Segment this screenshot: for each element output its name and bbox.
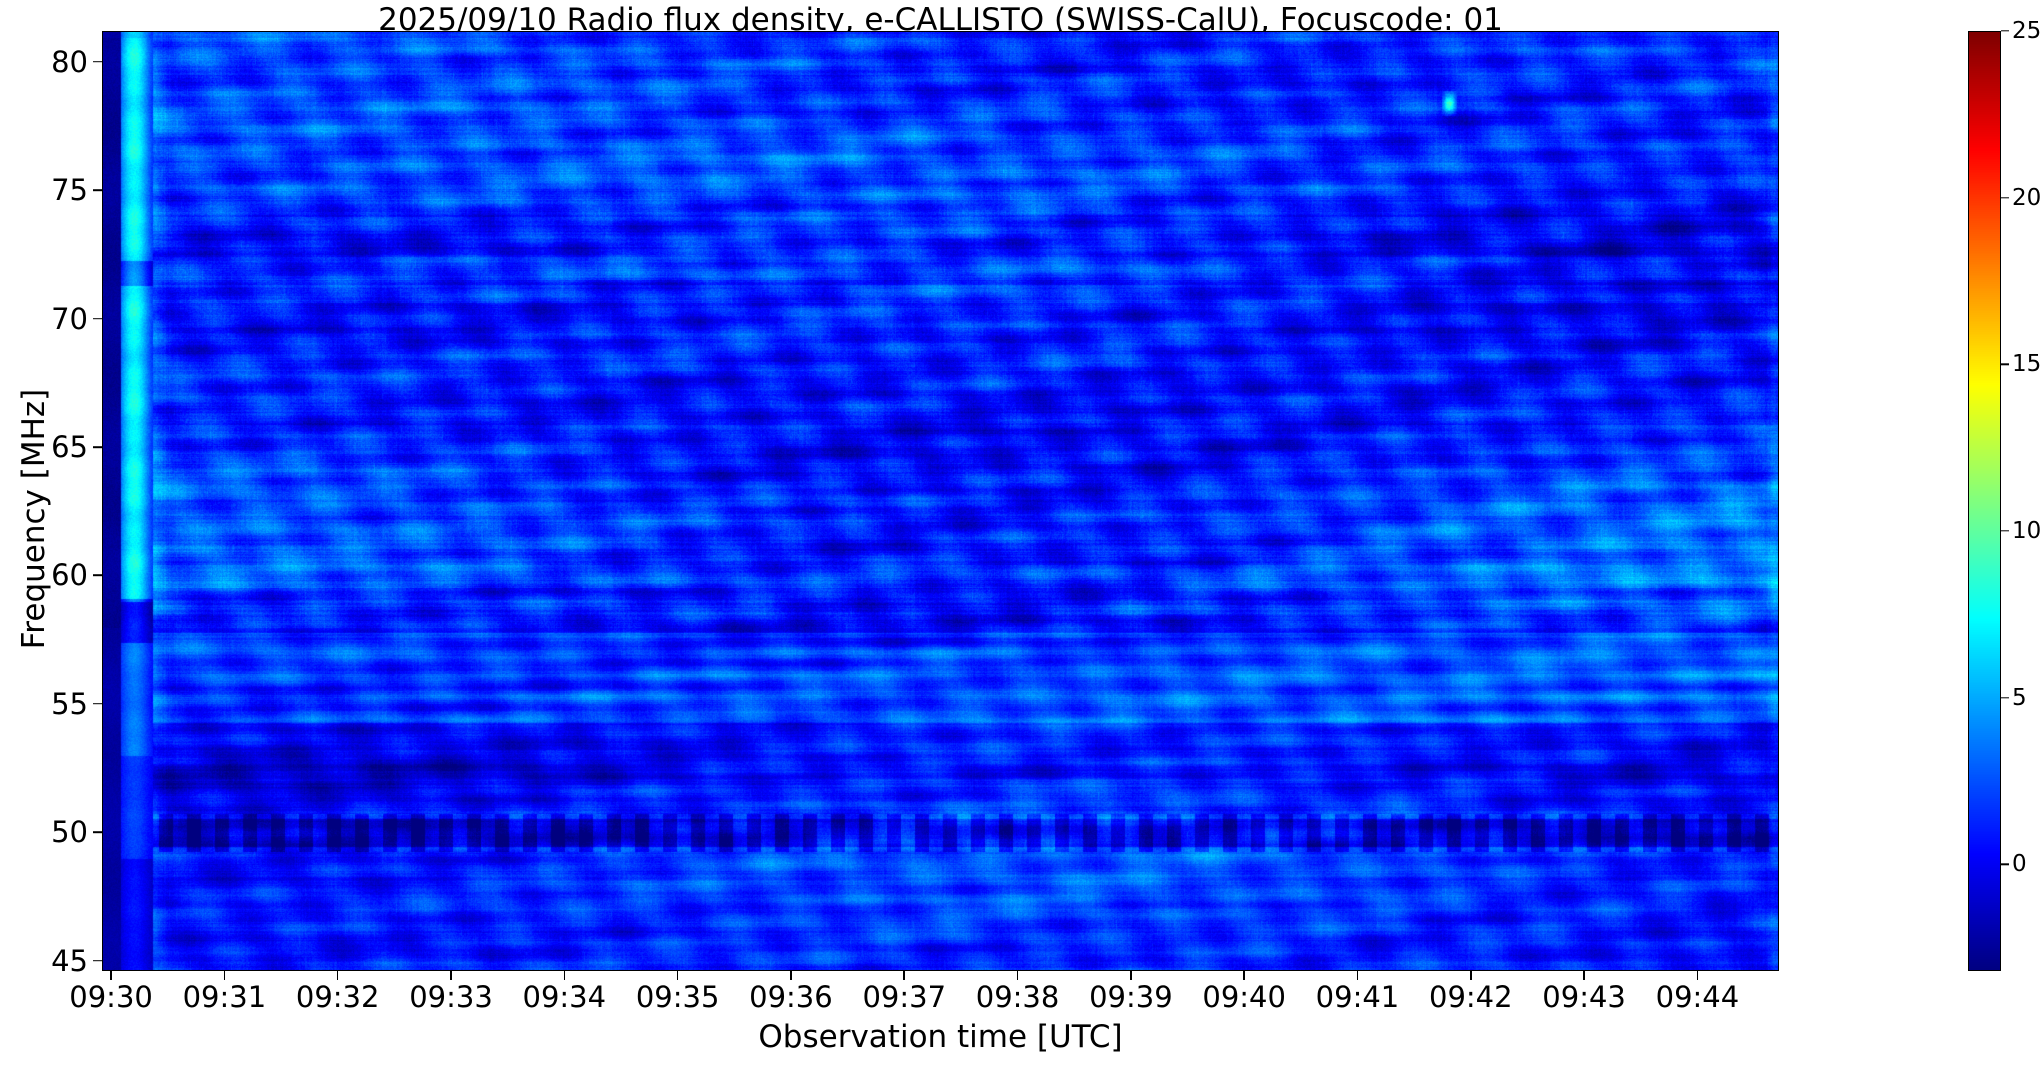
x-tick-label: 09:41: [1316, 980, 1400, 1014]
y-tick-mark: [93, 318, 102, 320]
y-tick-label: 45: [0, 944, 88, 978]
spectrogram-axes: [102, 31, 1779, 971]
x-tick-mark: [337, 971, 339, 980]
x-tick-mark: [1470, 971, 1472, 980]
x-tick-mark: [903, 971, 905, 980]
colorbar-tick-mark: [2001, 864, 2009, 865]
x-tick-label: 09:34: [523, 980, 607, 1014]
x-tick-mark: [1130, 971, 1132, 980]
x-tick-label: 09:30: [69, 980, 153, 1014]
x-tick-mark: [1243, 971, 1245, 980]
y-tick-label: 50: [0, 815, 88, 849]
x-tick-label: 09:33: [409, 980, 493, 1014]
y-tick-mark: [93, 575, 102, 577]
y-tick-mark: [93, 960, 102, 962]
colorbar-gradient: [1969, 32, 2001, 971]
y-tick-mark: [93, 703, 102, 705]
y-tick-label: 80: [0, 45, 88, 79]
y-tick-mark: [93, 189, 102, 191]
colorbar-tick-label: 0: [2012, 851, 2027, 877]
colorbar-tick-label: 15: [2012, 351, 2041, 377]
x-tick-label: 09:44: [1656, 980, 1740, 1014]
x-axis-label: Observation time [UTC]: [102, 1019, 1779, 1055]
spectrogram-figure: 2025/09/10 Radio flux density, e-CALLIST…: [0, 0, 2043, 1067]
x-tick-label: 09:35: [636, 980, 720, 1014]
x-tick-mark: [1017, 971, 1019, 980]
colorbar-tick-mark: [2001, 197, 2009, 198]
x-tick-mark: [110, 971, 112, 980]
x-tick-label: 09:38: [976, 980, 1060, 1014]
y-tick-mark: [93, 61, 102, 63]
x-tick-mark: [564, 971, 566, 980]
x-tick-mark: [1697, 971, 1699, 980]
colorbar-tick-mark: [2001, 697, 2009, 698]
x-tick-mark: [1357, 971, 1359, 980]
colorbar-tick-mark: [2001, 530, 2009, 531]
y-tick-mark: [93, 446, 102, 448]
spectrogram-image: [103, 32, 1779, 971]
colorbar-tick-label: 25: [2012, 18, 2041, 44]
x-tick-label: 09:42: [1429, 980, 1513, 1014]
colorbar-tick-label: 10: [2012, 518, 2041, 544]
x-tick-label: 09:31: [183, 980, 267, 1014]
y-tick-label: 75: [0, 173, 88, 207]
y-axis-label: Frequency [MHz]: [16, 289, 52, 749]
colorbar: [1968, 31, 2001, 971]
x-tick-mark: [450, 971, 452, 980]
x-tick-label: 09:40: [1202, 980, 1286, 1014]
y-tick-mark: [93, 832, 102, 834]
x-tick-mark: [1583, 971, 1585, 980]
x-tick-label: 09:39: [1089, 980, 1173, 1014]
x-tick-mark: [790, 971, 792, 980]
x-tick-label: 09:43: [1542, 980, 1626, 1014]
colorbar-tick-label: 5: [2012, 685, 2027, 711]
x-tick-mark: [677, 971, 679, 980]
x-tick-label: 09:37: [862, 980, 946, 1014]
colorbar-tick-label: 20: [2012, 185, 2041, 211]
x-tick-label: 09:36: [749, 980, 833, 1014]
colorbar-tick-mark: [2001, 30, 2009, 31]
x-tick-mark: [224, 971, 226, 980]
x-tick-label: 09:32: [296, 980, 380, 1014]
colorbar-tick-mark: [2001, 364, 2009, 365]
